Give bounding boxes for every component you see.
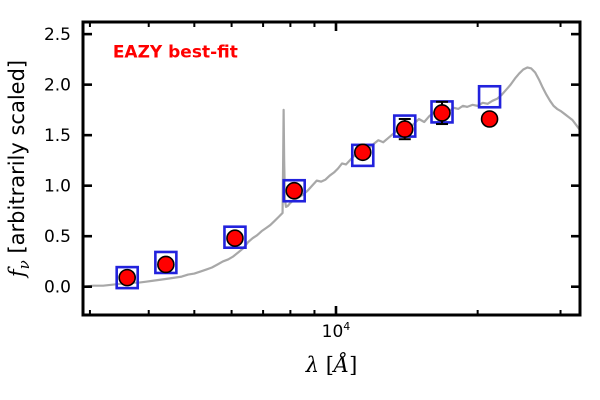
observed-flux-point-3 bbox=[286, 183, 302, 199]
observed-flux-point-1 bbox=[158, 256, 174, 272]
y-tick-label-0: 0.0 bbox=[44, 278, 71, 298]
y-tick-label-1: 0.5 bbox=[44, 227, 71, 247]
x-tick-label-0: 104 bbox=[322, 320, 351, 342]
y-tick-label-5: 2.5 bbox=[44, 25, 71, 45]
sed-plot: 0.00.51.01.52.02.5104EAZY best-fitλ [Å]f… bbox=[0, 0, 600, 400]
observed-flux-point-4 bbox=[355, 144, 371, 160]
observed-flux-point-6 bbox=[434, 105, 450, 121]
y-tick-label-2: 1.0 bbox=[44, 177, 71, 197]
observed-flux-point-2 bbox=[227, 230, 243, 246]
y-tick-label-4: 2.0 bbox=[44, 76, 71, 96]
axis-frame bbox=[83, 22, 580, 315]
observed-flux-point-5 bbox=[397, 121, 413, 137]
eazy-bestfit-label: EAZY best-fit bbox=[113, 42, 238, 62]
x-axis-label: λ [Å] bbox=[305, 352, 358, 377]
sed-figure: 0.00.51.01.52.02.5104EAZY best-fitλ [Å]f… bbox=[0, 0, 600, 400]
spectrum-curve bbox=[83, 67, 580, 286]
y-axis-label: fν [arbitrarily scaled] bbox=[5, 60, 33, 279]
observed-flux-point-7 bbox=[482, 111, 498, 127]
observed-flux-point-0 bbox=[119, 270, 135, 286]
y-tick-label-3: 1.5 bbox=[44, 126, 71, 146]
